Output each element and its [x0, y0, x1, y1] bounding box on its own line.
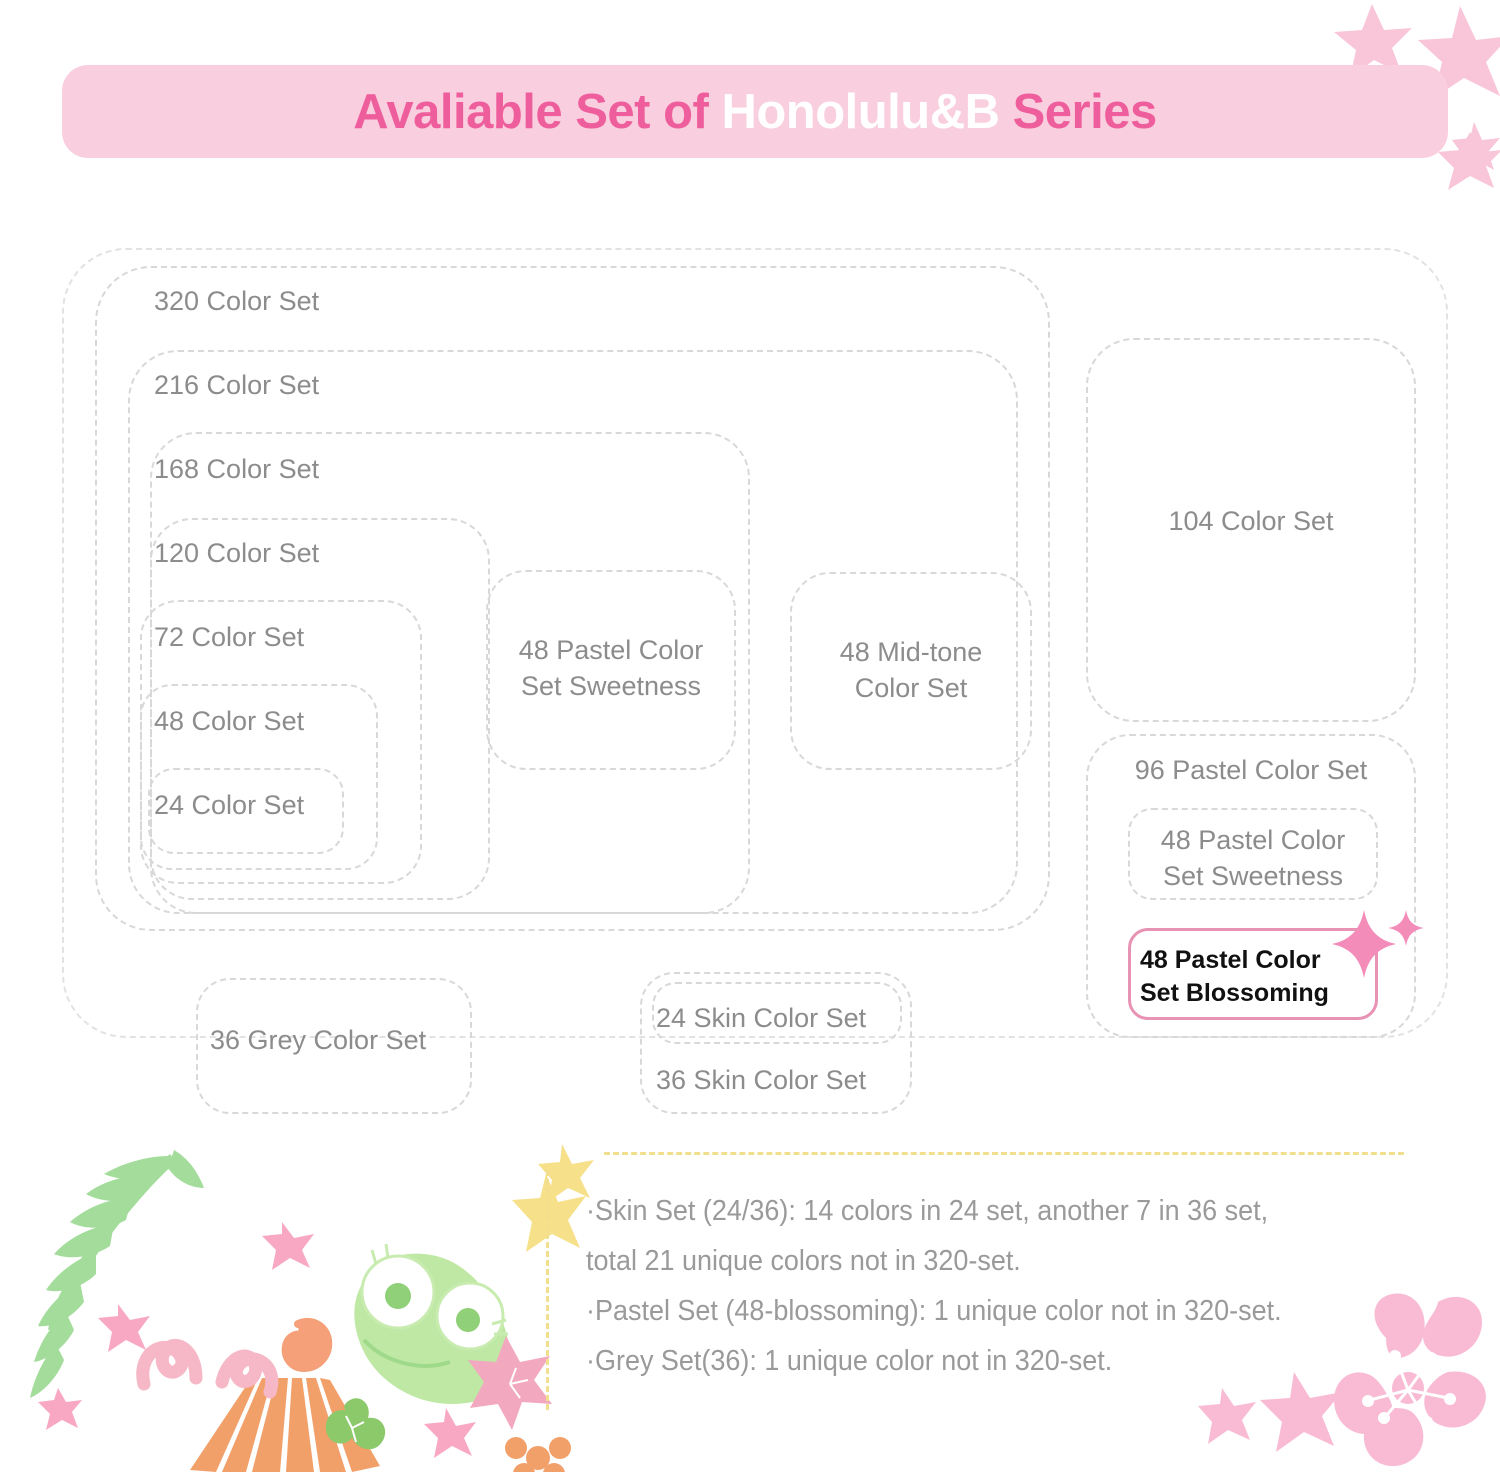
- note-line-skin: ·Skin Set (24/36): 14 colors in 24 set, …: [586, 1186, 1367, 1286]
- decor-stars-yellow: [512, 1144, 594, 1252]
- page-title-highlight: Honolulu&B: [721, 85, 999, 139]
- notes-divider-vertical: [546, 1170, 549, 1410]
- note-line-pastel: ·Pastel Set (48-blossoming): 1 unique co…: [586, 1286, 1367, 1336]
- flower-orange-icon: [505, 1437, 571, 1472]
- set-label-36-grey: 36 Grey Color Set: [210, 1022, 426, 1058]
- page-title-prefix: Avaliable Set of: [353, 85, 721, 139]
- set-label-48-pastel-sweetness-right: 48 Pastel Color Set Sweetness: [1128, 822, 1378, 894]
- set-label-120: 120 Color Set: [154, 535, 319, 571]
- set-label-320: 320 Color Set: [154, 283, 319, 319]
- set-label-48-pastel-sweetness-middle: 48 Pastel Color Set Sweetness: [486, 632, 736, 704]
- marker-fan-icon: [190, 1378, 380, 1472]
- decor-stars-bottom-left: [38, 1222, 476, 1458]
- set-label-48: 48 Color Set: [154, 703, 304, 739]
- set-label-48-midtone: 48 Mid-tone Color Set: [790, 634, 1032, 706]
- decor-stars-right-edge: [1452, 120, 1500, 210]
- shell-icon: [286, 1322, 329, 1368]
- palm-leaf-icon: [30, 1150, 204, 1398]
- infographic-canvas: Avaliable Set of Honolulu&B Series 320 C…: [0, 0, 1500, 1472]
- page-title: Avaliable Set of Honolulu&B Series: [353, 84, 1156, 140]
- page-header-banner: Avaliable Set of Honolulu&B Series: [62, 65, 1448, 158]
- set-label-72: 72 Color Set: [154, 619, 304, 655]
- page-title-suffix: Series: [1000, 85, 1157, 139]
- set-label-216: 216 Color Set: [154, 367, 319, 403]
- flower-green-icon: [326, 1398, 385, 1449]
- set-label-24: 24 Color Set: [154, 787, 304, 823]
- set-label-104: 104 Color Set: [1086, 503, 1416, 539]
- set-label-48-pastel-blossoming: 48 Pastel Color Set Blossoming: [1140, 944, 1380, 1010]
- notes-block: ·Skin Set (24/36): 14 colors in 24 set, …: [586, 1186, 1426, 1386]
- curl-decor-icon: [143, 1345, 272, 1392]
- notes-divider-horizontal: [604, 1152, 1404, 1155]
- note-line-grey: ·Grey Set(36): 1 unique color not in 320…: [586, 1336, 1367, 1386]
- set-label-24-skin: 24 Skin Color Set: [656, 1000, 866, 1036]
- set-label-168: 168 Color Set: [154, 451, 319, 487]
- flower-pink-icon: [468, 1336, 552, 1430]
- set-label-36-skin: 36 Skin Color Set: [656, 1062, 866, 1098]
- decor-illustration-bottom-left: [0, 1140, 600, 1472]
- set-label-96-pastel: 96 Pastel Color Set: [1086, 752, 1416, 788]
- frog-icon: [354, 1244, 510, 1404]
